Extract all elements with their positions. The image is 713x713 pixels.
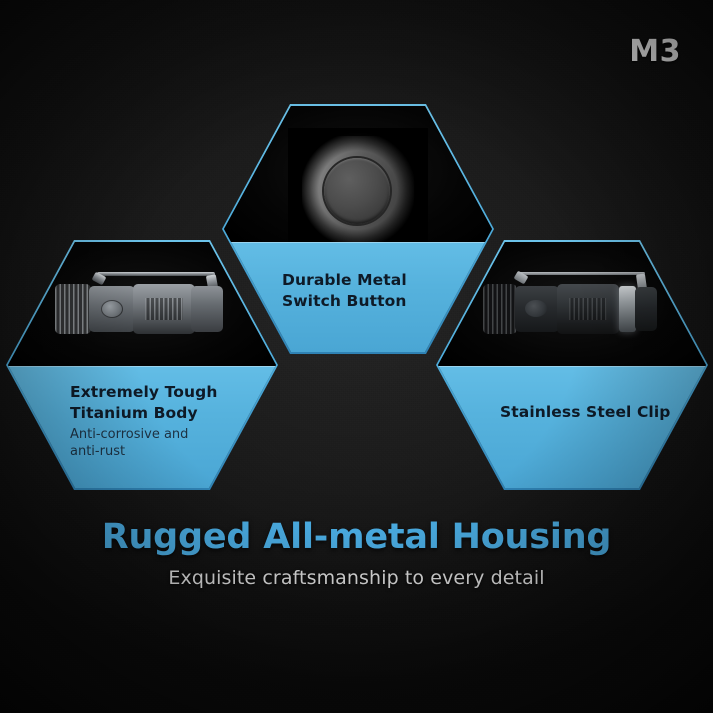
feature-body-subtitle-line2: anti-rust: [70, 444, 217, 461]
feature-switch-title-line2: Switch Button: [282, 291, 407, 312]
switch-vignette-mask: [288, 128, 428, 252]
titanium-flashlight-illustration: [49, 272, 235, 336]
side-switch-icon: [101, 300, 123, 318]
feature-clip-title: Stainless Steel Clip: [500, 402, 670, 423]
body-photo-area: [8, 242, 276, 366]
flashlight-head: [55, 284, 91, 334]
clip-arm-icon: [519, 272, 645, 275]
feature-body-title-line2: Titanium Body: [70, 403, 217, 424]
metal-switch-button-illustration: [294, 134, 422, 246]
feature-body-subtitle-line1: Anti-corrosive and: [70, 427, 217, 444]
brand-logo: M3: [629, 34, 681, 69]
feature-card-clip[interactable]: Stainless Steel Clip: [438, 242, 706, 488]
tube-grooves: [145, 298, 183, 320]
clip-arm-icon: [97, 272, 215, 276]
clip-caption-panel: Stainless Steel Clip: [438, 366, 706, 488]
stainless-clip-band: [619, 286, 636, 332]
flashlight-tail: [191, 286, 223, 332]
feature-card-body[interactable]: Extremely Tough Titanium Body Anti-corro…: [8, 242, 276, 488]
feature-body-title-line1: Extremely Tough: [70, 382, 217, 403]
feature-switch-title-line1: Durable Metal: [282, 270, 407, 291]
clip-photo-area: [438, 242, 706, 366]
feature-card-switch[interactable]: Durable Metal Switch Button: [224, 106, 492, 352]
body-caption-panel: Extremely Tough Titanium Body Anti-corro…: [8, 366, 276, 488]
tube-grooves: [569, 298, 607, 320]
flashlight-head: [483, 284, 517, 334]
flashlight-tail: [635, 287, 657, 331]
steel-clip-flashlight-illustration: [479, 272, 665, 336]
switch-caption-panel: Durable Metal Switch Button: [224, 242, 492, 352]
page-title: Rugged All-metal Housing: [0, 517, 713, 557]
page-subtitle: Exquisite craftsmanship to every detail: [0, 567, 713, 589]
product-feature-banner: Durable Metal Switch Button: [0, 0, 713, 713]
side-switch-icon: [525, 300, 547, 317]
switch-photo-area: [224, 106, 492, 242]
